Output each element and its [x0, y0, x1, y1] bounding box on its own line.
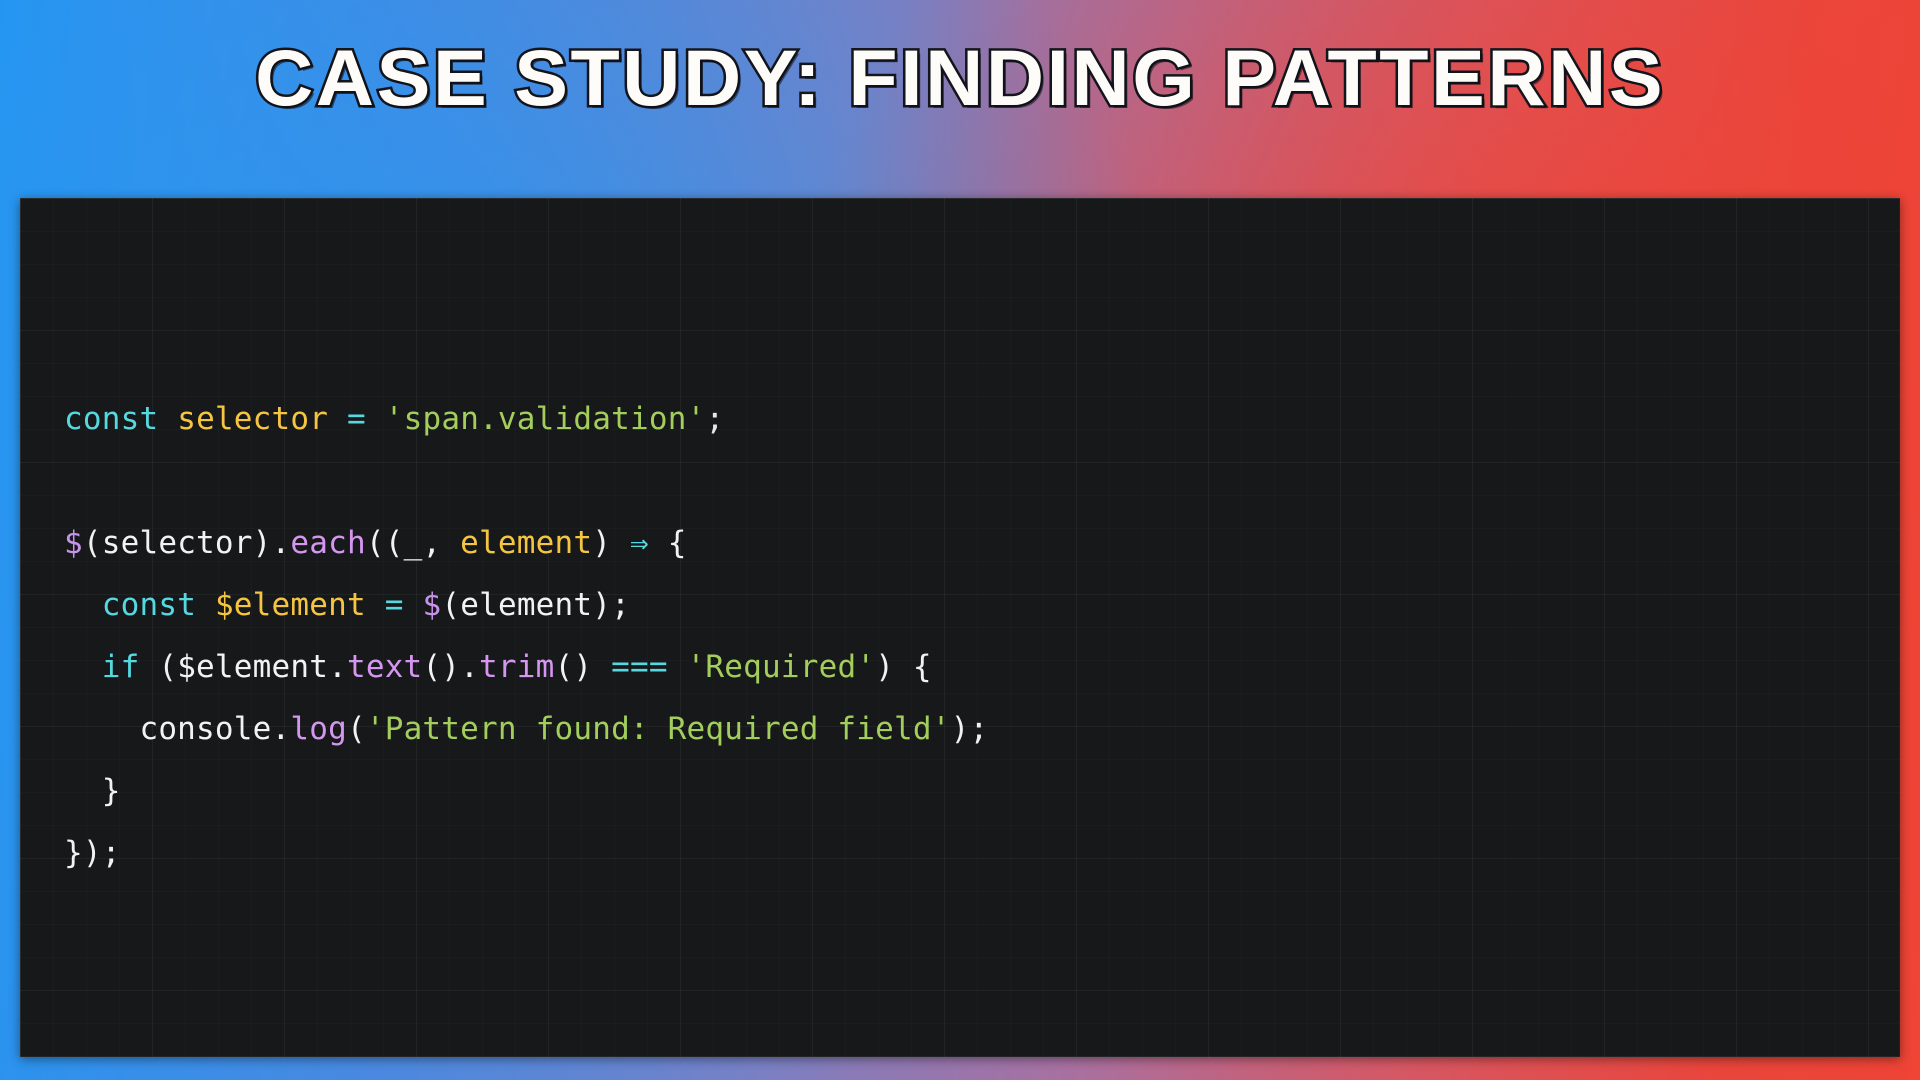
code-token-plain	[196, 587, 215, 623]
code-token-kw: const	[64, 401, 158, 437]
code-token-plain: ($element.	[139, 649, 347, 685]
code-token-plain	[64, 587, 102, 623]
code-token-str: 'span.validation'	[385, 401, 706, 437]
code-line: });	[64, 822, 988, 884]
code-line: const selector = 'span.validation';	[64, 388, 988, 450]
code-token-var: selector	[177, 401, 328, 437]
code-token-dollar: $	[64, 525, 83, 561]
code-token-op: ===	[611, 649, 668, 685]
code-token-op: =	[347, 401, 366, 437]
code-token-op: =	[385, 587, 404, 623]
code-token-plain: }	[64, 773, 121, 809]
code-token-kw: const	[102, 587, 196, 623]
code-token-var: $element	[215, 587, 366, 623]
code-token-var: element	[460, 525, 592, 561]
code-token-fn: each	[290, 525, 365, 561]
code-token-plain	[404, 587, 423, 623]
code-token-str: 'Pattern found: Required field'	[366, 711, 951, 747]
code-token-op: ⇒	[630, 525, 649, 561]
code-token-plain: (selector).	[83, 525, 291, 561]
code-token-plain: ()	[555, 649, 612, 685]
slide-root: Case Study: Finding Patterns const selec…	[0, 0, 1920, 1080]
code-line: const $element = $(element);	[64, 574, 988, 636]
code-token-plain	[366, 401, 385, 437]
code-token-plain: (element);	[441, 587, 630, 623]
code-token-plain: );	[951, 711, 989, 747]
code-block: const selector = 'span.validation'; $(se…	[64, 388, 988, 884]
code-token-kw: if	[102, 649, 140, 685]
code-token-str: 'Required'	[687, 649, 876, 685]
code-token-plain	[328, 401, 347, 437]
code-token-plain: (	[347, 711, 366, 747]
code-token-plain	[366, 587, 385, 623]
code-token-plain: console.	[64, 711, 290, 747]
code-token-plain: });	[64, 835, 121, 871]
code-line: console.log('Pattern found: Required fie…	[64, 698, 988, 760]
slide-title-container: Case Study: Finding Patterns	[0, 38, 1920, 119]
code-token-punct: ;	[705, 401, 724, 437]
code-token-plain: )	[592, 525, 630, 561]
code-token-plain: ().	[422, 649, 479, 685]
code-token-plain	[668, 649, 687, 685]
code-line: }	[64, 760, 988, 822]
code-line: if ($element.text().trim() === 'Required…	[64, 636, 988, 698]
code-line: $(selector).each((_, element) ⇒ {	[64, 512, 988, 574]
code-token-plain	[158, 401, 177, 437]
page-title: Case Study: Finding Patterns	[255, 38, 1665, 119]
code-token-fn: text	[347, 649, 422, 685]
code-token-plain: ((_,	[366, 525, 460, 561]
code-token-dollar: $	[422, 587, 441, 623]
code-token-plain: {	[649, 525, 687, 561]
code-token-fn: log	[290, 711, 347, 747]
code-line	[64, 450, 988, 512]
code-token-fn: trim	[479, 649, 554, 685]
code-panel: const selector = 'span.validation'; $(se…	[20, 198, 1900, 1057]
code-token-plain	[64, 649, 102, 685]
code-token-plain: ) {	[875, 649, 932, 685]
